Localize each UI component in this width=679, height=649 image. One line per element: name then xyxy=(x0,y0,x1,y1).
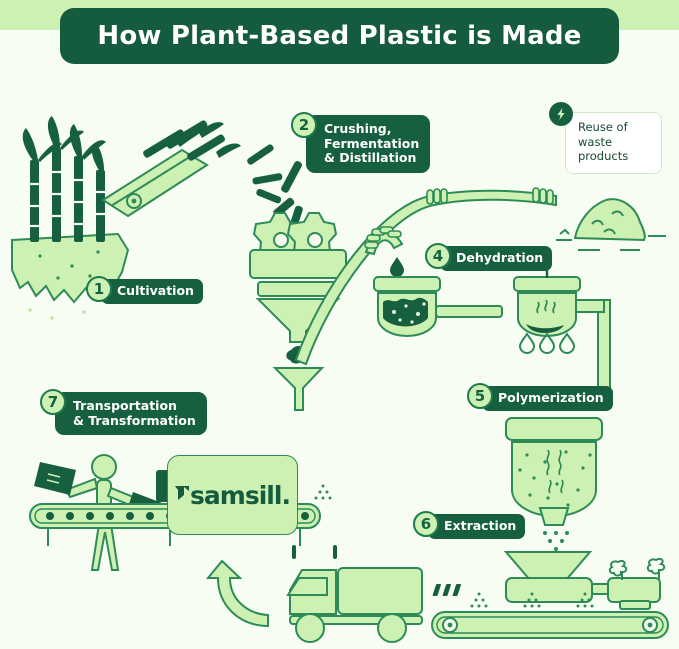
step-4-label: Dehydration xyxy=(440,246,552,271)
dehydration-tank xyxy=(514,261,610,400)
samsill-logo-box: samsill . xyxy=(167,455,298,535)
step-7-label: Transportation & Transformation xyxy=(55,392,207,435)
step-4-badge: 4 xyxy=(425,243,451,269)
step-5-badge: 5 xyxy=(467,383,493,409)
step-6-extraction[interactable]: 6 Extraction xyxy=(413,511,525,539)
harvest-conveyor xyxy=(103,119,303,218)
reuse-waste-text: Reuse of waste products xyxy=(578,120,656,164)
step-2-badge: 2 xyxy=(291,112,317,138)
step-7-badge: 7 xyxy=(40,389,66,415)
waste-pile xyxy=(556,199,666,250)
reuse-waste-callout[interactable]: Reuse of waste products xyxy=(565,112,662,174)
delivery-truck xyxy=(288,545,422,642)
fermentation-tank xyxy=(374,277,502,336)
step-4-dehydration[interactable]: 4 Dehydration xyxy=(425,243,552,271)
infographic-canvas: How Plant-Based Plastic is Made 1 Cultiv… xyxy=(0,0,679,649)
step-1-cultivation[interactable]: 1 Cultivation xyxy=(86,276,203,304)
step-2-label: Crushing, Fermentation & Distillation xyxy=(306,115,430,173)
page-title: How Plant-Based Plastic is Made xyxy=(60,8,619,64)
cycle-arrow xyxy=(208,561,268,626)
page-title-text: How Plant-Based Plastic is Made xyxy=(97,21,581,51)
illustration-layer xyxy=(0,0,679,649)
step-6-badge: 6 xyxy=(413,511,439,537)
step-1-label: Cultivation xyxy=(101,279,203,304)
step-5-label: Polymerization xyxy=(482,386,613,411)
step-2-crushing[interactable]: 2 Crushing, Fermentation & Distillation xyxy=(291,112,430,173)
samsill-logo-text: samsill xyxy=(190,481,281,510)
step-5-polymerization[interactable]: 5 Polymerization xyxy=(467,383,613,411)
samsill-logo-dot: . xyxy=(281,481,291,510)
step-7-transportation[interactable]: 7 Transportation & Transformation xyxy=(40,389,207,435)
step-1-badge: 1 xyxy=(86,276,112,302)
step-6-label: Extraction xyxy=(428,514,525,539)
lightning-bolt-icon xyxy=(549,102,573,126)
